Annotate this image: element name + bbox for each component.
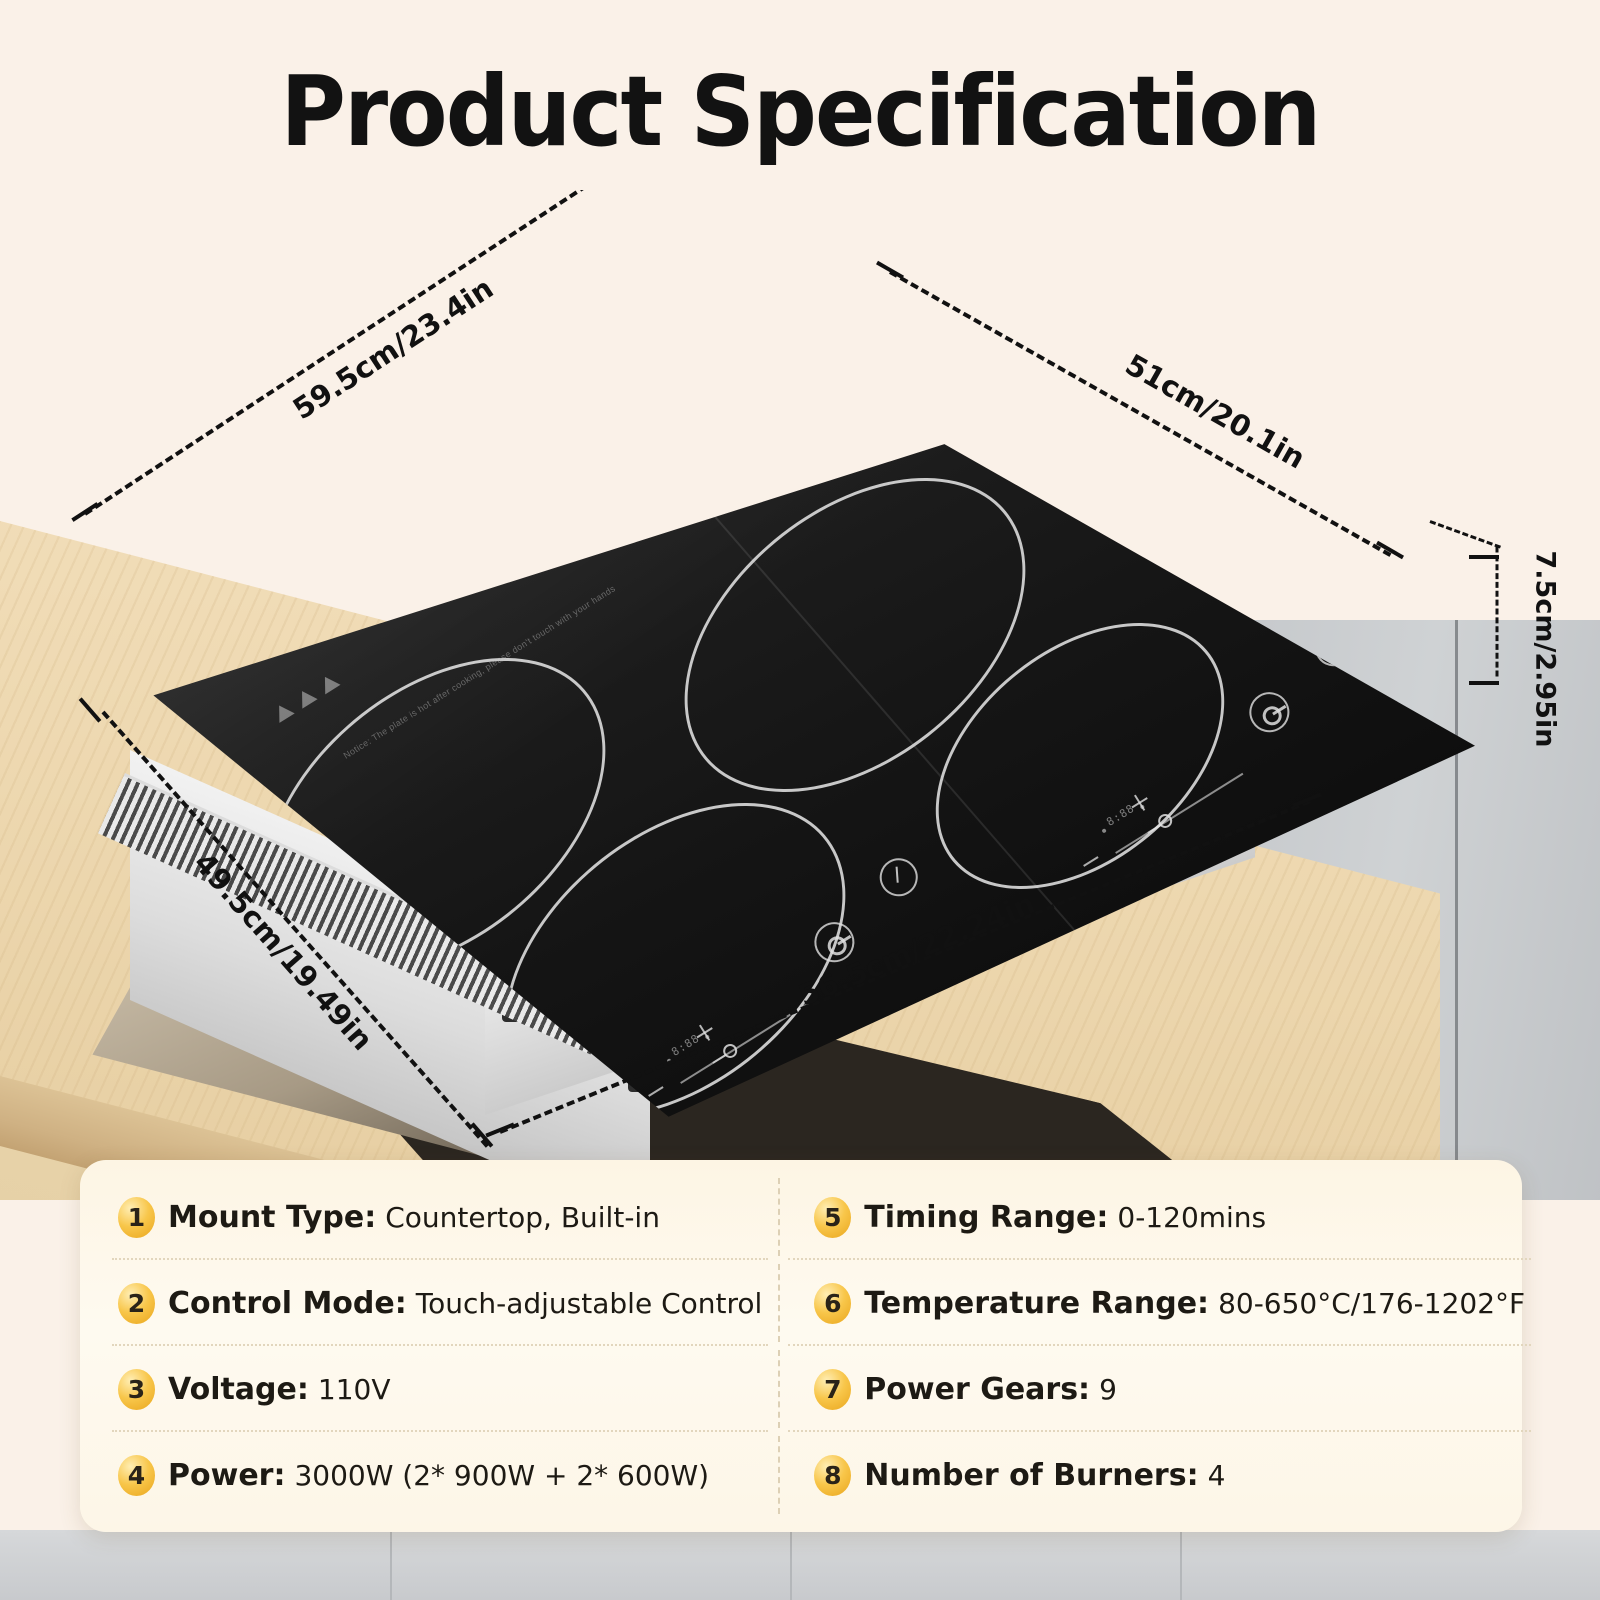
spec-label: Power: (168, 1458, 285, 1493)
dim-cap (1469, 681, 1499, 685)
page-title: Product Specification (64, 55, 1536, 168)
spec-label: Number of Burners: (864, 1458, 1198, 1493)
spec-badge: 3 (118, 1369, 155, 1410)
dim-cap (71, 502, 98, 522)
spec-label: Mount Type: (168, 1200, 376, 1235)
spec-value: Countertop, Built-in (385, 1201, 660, 1234)
dim-line-width-top (84, 190, 760, 516)
product-illustration: Notice: The plate is hot after cooking, … (0, 190, 1600, 1200)
spec-value: 80-650°C/176-1202°F (1218, 1287, 1525, 1320)
spec-row-mount-type: 1 Mount Type: Countertop, Built-in (102, 1174, 778, 1260)
spec-value: 9 (1099, 1373, 1117, 1406)
spec-row-timing-range: 5 Timing Range: 0-120mins (778, 1174, 1541, 1260)
spec-label: Voltage: (168, 1372, 309, 1407)
dim-cap (1469, 555, 1499, 559)
spec-row-power: 4 Power: 3000W (2* 900W + 2* 600W) (102, 1432, 778, 1518)
spec-value: 4 (1208, 1459, 1226, 1492)
spec-badge: 8 (814, 1455, 851, 1496)
spec-row-control-mode: 2 Control Mode: Touch-adjustable Control (102, 1260, 778, 1346)
spec-badge: 6 (814, 1283, 851, 1324)
spec-label: Temperature Range: (864, 1286, 1209, 1321)
spec-value: Touch-adjustable Control (416, 1287, 763, 1320)
dim-line-height-side (1496, 547, 1499, 677)
dim-label-height-side: 7.5cm/2.95in (1530, 551, 1561, 748)
spec-label: Power Gears: (864, 1372, 1090, 1407)
spec-badge: 5 (814, 1197, 851, 1238)
spec-row-number-of-burners: 8 Number of Burners: 4 (778, 1432, 1541, 1518)
spec-badge: 4 (118, 1455, 155, 1496)
spec-value: 0-120mins (1117, 1201, 1266, 1234)
spec-row-temperature-range: 6 Temperature Range: 80-650°C/176-1202°F (778, 1260, 1541, 1346)
spec-badge: 2 (118, 1283, 155, 1324)
spec-label: Control Mode: (168, 1286, 407, 1321)
spec-badge: 7 (814, 1369, 851, 1410)
floor-strip (0, 1530, 1600, 1600)
spec-value: 110V (318, 1373, 391, 1406)
dim-leader-height (1429, 520, 1501, 548)
spec-badge: 1 (118, 1197, 155, 1238)
dim-label-width-top: 59.5cm/23.4in (287, 271, 499, 426)
spec-label: Timing Range: (864, 1200, 1108, 1235)
specification-card: 1 Mount Type: Countertop, Built-in 5 Tim… (80, 1160, 1522, 1532)
spec-row-voltage: 3 Voltage: 110V (102, 1346, 778, 1432)
spec-value: 3000W (2* 900W + 2* 600W) (294, 1459, 709, 1492)
spec-row-power-gears: 7 Power Gears: 9 (778, 1346, 1541, 1432)
dim-cap (876, 261, 904, 279)
